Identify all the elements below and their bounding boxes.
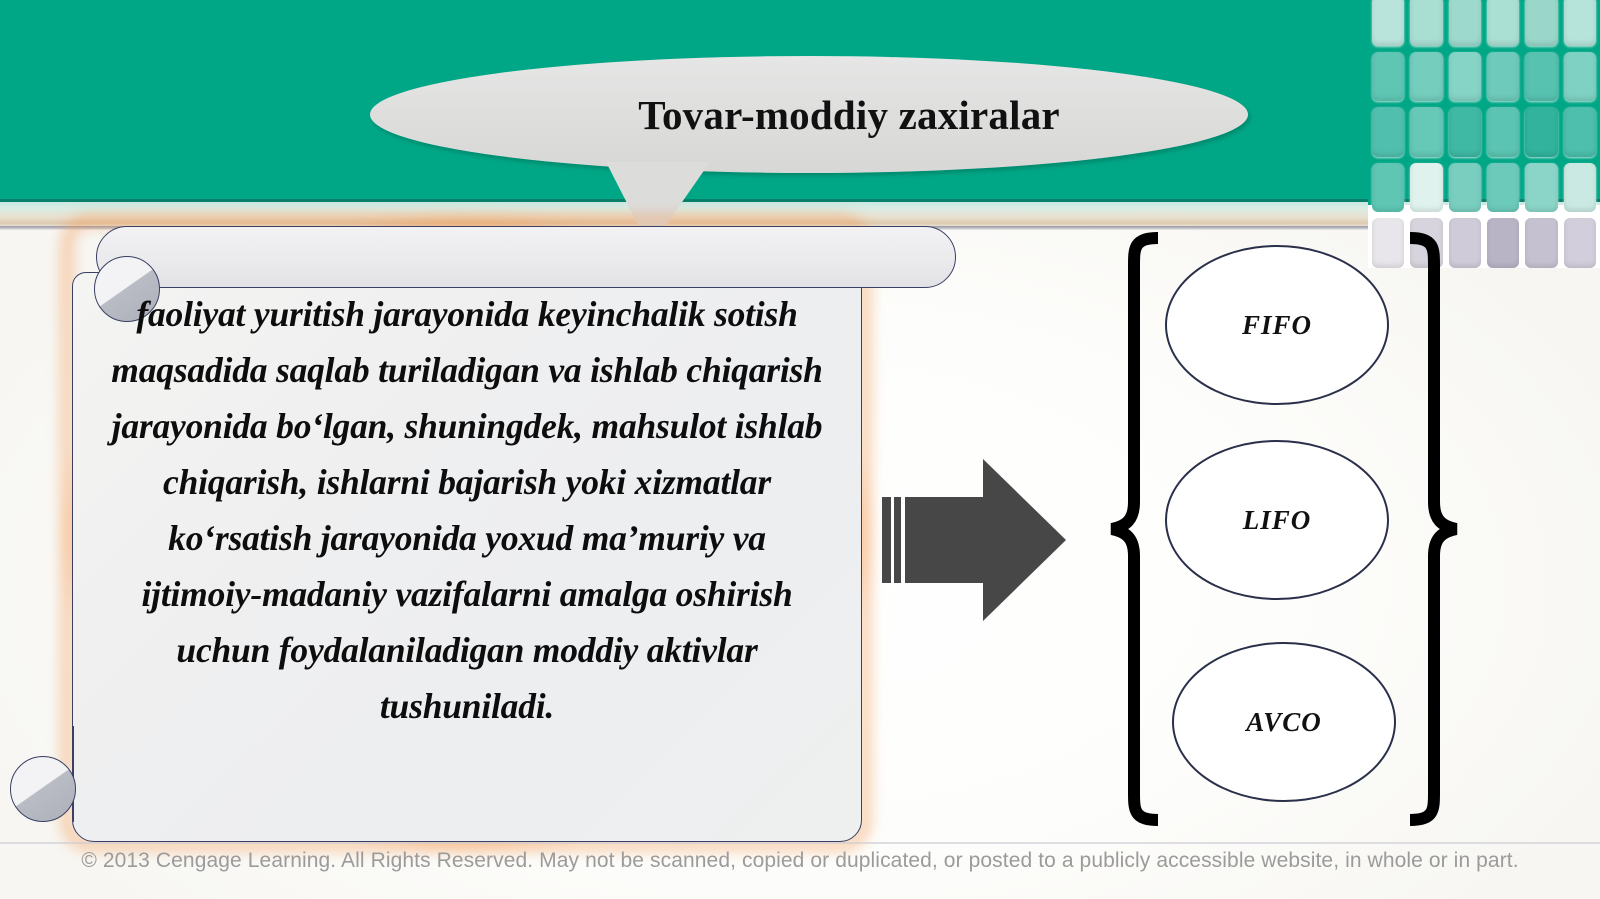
keyboard-key — [1525, 218, 1557, 268]
keyboard-key-grid — [1368, 0, 1600, 268]
keyboard-decoration-icon — [1368, 0, 1600, 268]
keyboard-key — [1410, 107, 1442, 157]
keyboard-key — [1487, 107, 1519, 157]
keyboard-key — [1564, 52, 1596, 102]
keyboard-key — [1525, 0, 1557, 46]
keyboard-key — [1410, 52, 1442, 102]
keyboard-key — [1525, 52, 1557, 102]
keyboard-key — [1410, 0, 1442, 46]
keyboard-key — [1487, 218, 1519, 268]
left-curly-brace-icon — [1108, 232, 1168, 826]
page-title: Tovar-moddiy zaxiralar — [370, 91, 1248, 139]
title-callout: Tovar-moddiy zaxiralar — [370, 56, 1248, 173]
keyboard-key — [1372, 0, 1404, 46]
keyboard-key — [1372, 107, 1404, 157]
keyboard-key — [1372, 52, 1404, 102]
keyboard-key — [1372, 163, 1404, 213]
keyboard-key — [1410, 163, 1442, 213]
keyboard-key — [1487, 0, 1519, 46]
keyboard-key — [1487, 52, 1519, 102]
slide-canvas: Tovar-moddiy zaxiralar faoliyat yuritish… — [0, 0, 1600, 899]
keyboard-key — [1564, 218, 1596, 268]
keyboard-key — [1525, 107, 1557, 157]
keyboard-key — [1449, 163, 1481, 213]
keyboard-key — [1449, 0, 1481, 46]
keyboard-key — [1449, 107, 1481, 157]
footer-divider — [0, 842, 1600, 844]
scroll-top-roll — [96, 226, 956, 288]
method-ellipse-fifo[interactable]: FIFO — [1165, 245, 1389, 405]
keyboard-key — [1449, 52, 1481, 102]
right-arrow-icon — [880, 455, 1070, 625]
keyboard-key — [1564, 163, 1596, 213]
keyboard-key — [1487, 163, 1519, 213]
method-ellipse-lifo[interactable]: LIFO — [1165, 440, 1389, 600]
definition-scroll-shape: faoliyat yuritish jarayonida keyinchalik… — [72, 226, 862, 842]
method-ellipse-avco[interactable]: AVCO — [1172, 642, 1396, 802]
scroll-curl-bottom-left — [10, 756, 76, 822]
keyboard-key — [1525, 163, 1557, 213]
definition-text: faoliyat yuritish jarayonida keyinchalik… — [110, 286, 824, 734]
copyright-footer: © 2013 Cengage Learning. All Rights Rese… — [0, 849, 1600, 873]
method-label: AVCO — [1246, 707, 1322, 738]
method-label: FIFO — [1242, 310, 1312, 341]
keyboard-key — [1564, 0, 1596, 46]
right-curly-brace-icon — [1400, 232, 1460, 826]
method-label: LIFO — [1243, 505, 1312, 536]
keyboard-key — [1564, 107, 1596, 157]
